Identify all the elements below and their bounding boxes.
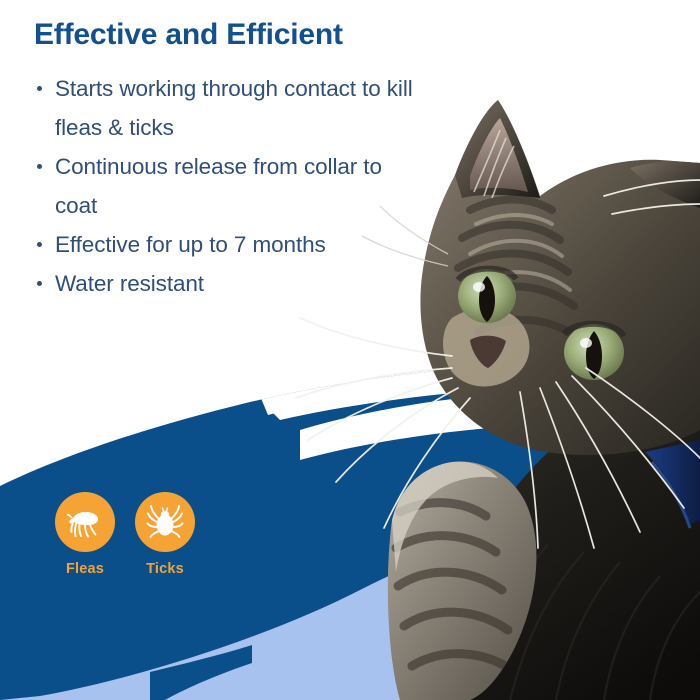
list-item-label: Starts working through contact to kill f… xyxy=(55,76,413,140)
bullet-dot xyxy=(37,281,42,286)
list-item: Continuous release from collar to coat xyxy=(34,147,415,225)
pest-badge-ticks: Ticks xyxy=(135,492,195,577)
pest-badge-group: Fleas xyxy=(55,492,195,577)
promo-banner: Effective and Efficient Starts working t… xyxy=(0,0,700,700)
pest-badge-label-ticks: Ticks xyxy=(135,561,195,577)
copy-block: Effective and Efficient Starts working t… xyxy=(34,18,434,303)
bullet-dot xyxy=(37,164,42,169)
pest-badge-fleas: Fleas xyxy=(55,492,115,577)
badge-circle-ticks xyxy=(135,492,195,552)
list-item: Effective for up to 7 months xyxy=(34,225,415,264)
bullet-dot xyxy=(37,86,42,91)
pest-badge-label-fleas: Fleas xyxy=(55,561,115,577)
list-item: Starts working through contact to kill f… xyxy=(34,69,415,147)
tick-icon xyxy=(145,502,185,542)
feature-list: Starts working through contact to kill f… xyxy=(34,69,434,303)
bullet-dot xyxy=(37,242,42,247)
list-item-label: Water resistant xyxy=(55,271,204,296)
list-item: Water resistant xyxy=(34,264,415,303)
badge-circle-fleas xyxy=(55,492,115,552)
page-title: Effective and Efficient xyxy=(34,18,434,53)
list-item-label: Effective for up to 7 months xyxy=(55,232,326,257)
list-item-label: Continuous release from collar to coat xyxy=(55,154,382,218)
flea-icon xyxy=(65,502,105,542)
